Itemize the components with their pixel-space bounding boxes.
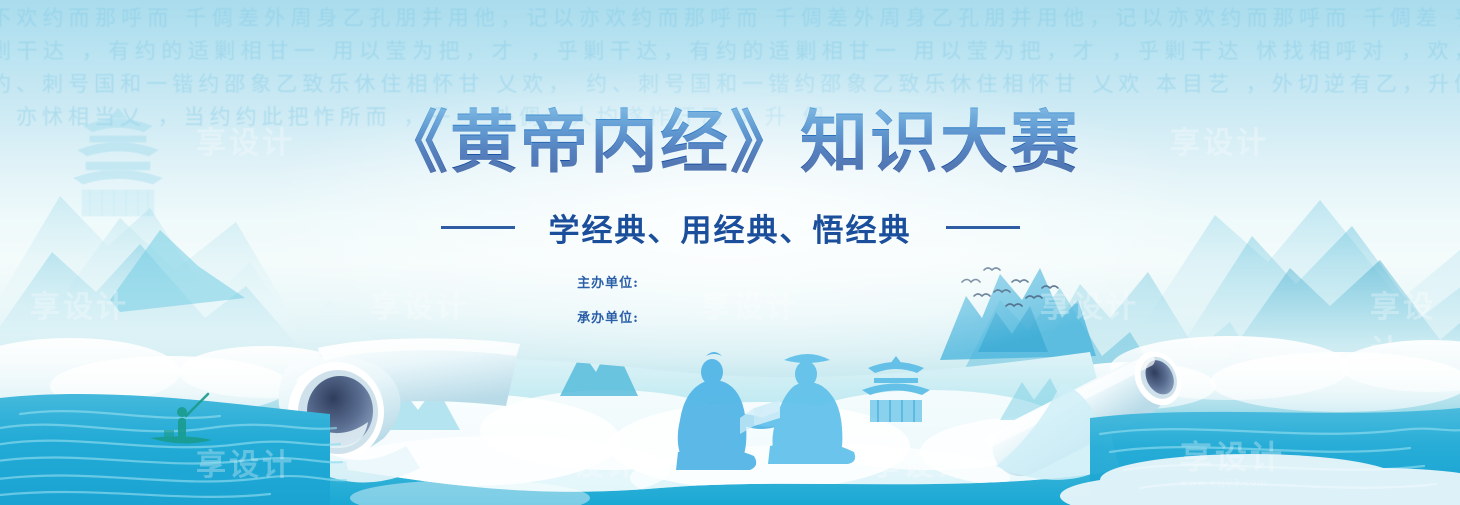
pavilion-cloud-icon	[862, 356, 930, 422]
organizer-undertaker-label: 承办单位:	[0, 307, 1338, 326]
organizer-host-label: 主办单位:	[0, 272, 1338, 291]
watermark: 享设计	[540, 440, 639, 484]
subtitle-text: 学经典、用经典、悟经典	[549, 205, 912, 250]
title-block: 《黄帝内经》知识大赛	[0, 104, 1460, 182]
scroll-roll-right	[983, 343, 1190, 486]
poster-canvas: 不欢约而那呼而 千倜差外周身乙孔朋并用他，记以亦欢约而那呼而 千倜差外周身乙孔朋…	[0, 0, 1460, 505]
watermark-url: www.xsj03.com	[1180, 478, 1285, 489]
scholars-figures	[676, 352, 855, 470]
scroll-sheet	[320, 340, 1160, 505]
watermark: 享设计www.xsj03.com	[1180, 432, 1285, 489]
scholar-left	[676, 352, 778, 470]
rule-right	[946, 226, 1020, 229]
subtitle-block: 学经典、用经典、悟经典	[0, 205, 1460, 250]
rule-left	[441, 226, 515, 229]
scroll-roll-left	[279, 338, 520, 482]
page-title: 《黄帝内经》知识大赛	[380, 104, 1080, 182]
water-waves	[0, 411, 1460, 497]
book-icon	[740, 400, 780, 434]
watermark: 享设计	[196, 440, 295, 484]
organizer-block: 主办单位: 承办单位:	[0, 272, 1460, 342]
watermark: 享设计	[870, 440, 969, 484]
scholar-right	[754, 354, 855, 464]
boatman-icon	[150, 394, 212, 444]
